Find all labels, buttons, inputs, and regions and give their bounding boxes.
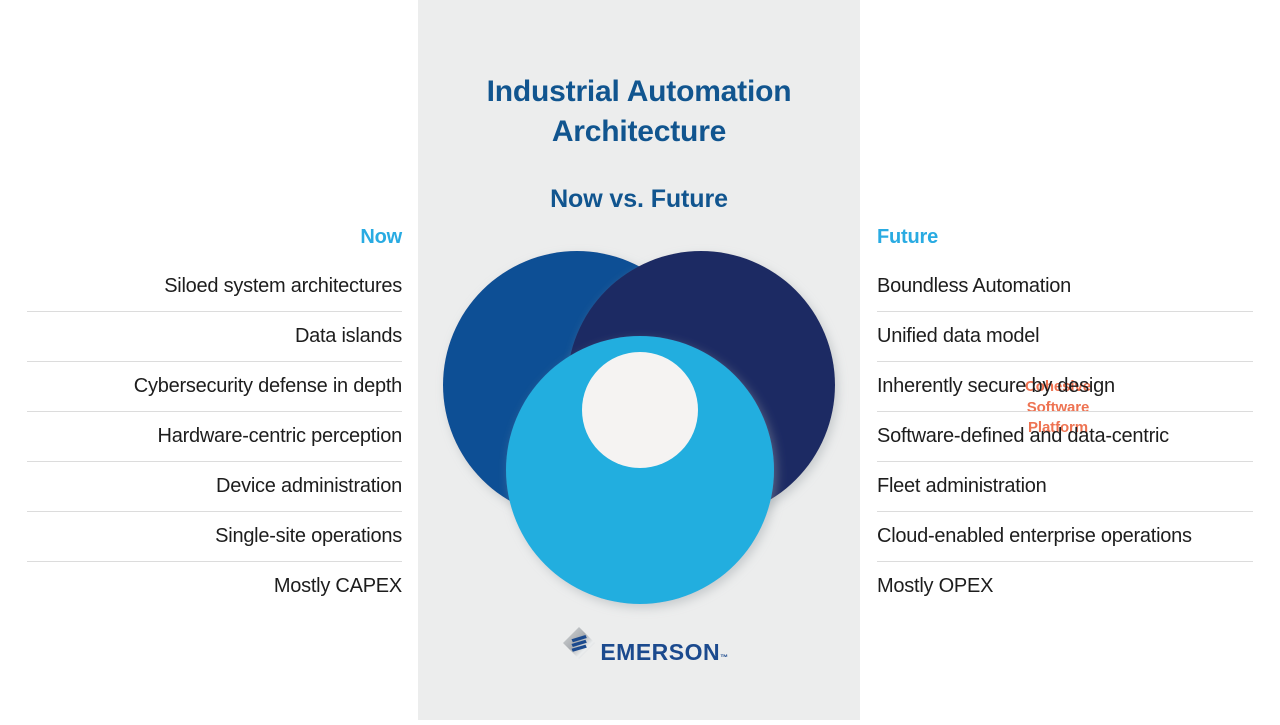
list-item: Single-site operations bbox=[27, 512, 402, 562]
center-panel: Industrial Automation Architecture Now v… bbox=[418, 0, 860, 720]
page-title: Industrial Automation Architecture bbox=[418, 72, 860, 151]
emerson-logo: EMERSON™ bbox=[560, 626, 730, 688]
column-header-now: Now bbox=[360, 226, 402, 249]
list-item: Data islands bbox=[27, 312, 402, 362]
column-now: Now Siloed system architectures Data isl… bbox=[0, 0, 418, 720]
list-item: Device administration bbox=[27, 462, 402, 512]
list-item: Cloud-enabled enterprise operations bbox=[877, 512, 1253, 562]
list-item: Inherently secure by design bbox=[877, 362, 1253, 412]
page-subtitle: Now vs. Future bbox=[418, 185, 860, 214]
list-item: Hardware-centric perception bbox=[27, 412, 402, 462]
list-item: Siloed system architectures bbox=[27, 262, 402, 312]
trademark-symbol: ™ bbox=[720, 653, 728, 662]
emerson-diamond-icon bbox=[562, 626, 596, 660]
list-now: Siloed system architectures Data islands… bbox=[27, 262, 402, 611]
emerson-wordmark: EMERSON™ bbox=[600, 639, 728, 666]
list-item: Mostly CAPEX bbox=[27, 562, 402, 611]
list-item: Mostly OPEX bbox=[877, 562, 1253, 611]
list-item: Fleet administration bbox=[877, 462, 1253, 512]
column-header-future: Future bbox=[877, 226, 938, 249]
list-item: Cybersecurity defense in depth bbox=[27, 362, 402, 412]
list-item: Unified data model bbox=[877, 312, 1253, 362]
list-future: Boundless Automation Unified data model … bbox=[877, 262, 1253, 611]
emerson-wordmark-text: EMERSON bbox=[600, 639, 720, 665]
column-future: Future Boundless Automation Unified data… bbox=[860, 0, 1280, 720]
list-item: Boundless Automation bbox=[877, 262, 1253, 312]
list-item: Software-defined and data-centric bbox=[877, 412, 1253, 462]
title-block: Industrial Automation Architecture Now v… bbox=[418, 72, 860, 214]
